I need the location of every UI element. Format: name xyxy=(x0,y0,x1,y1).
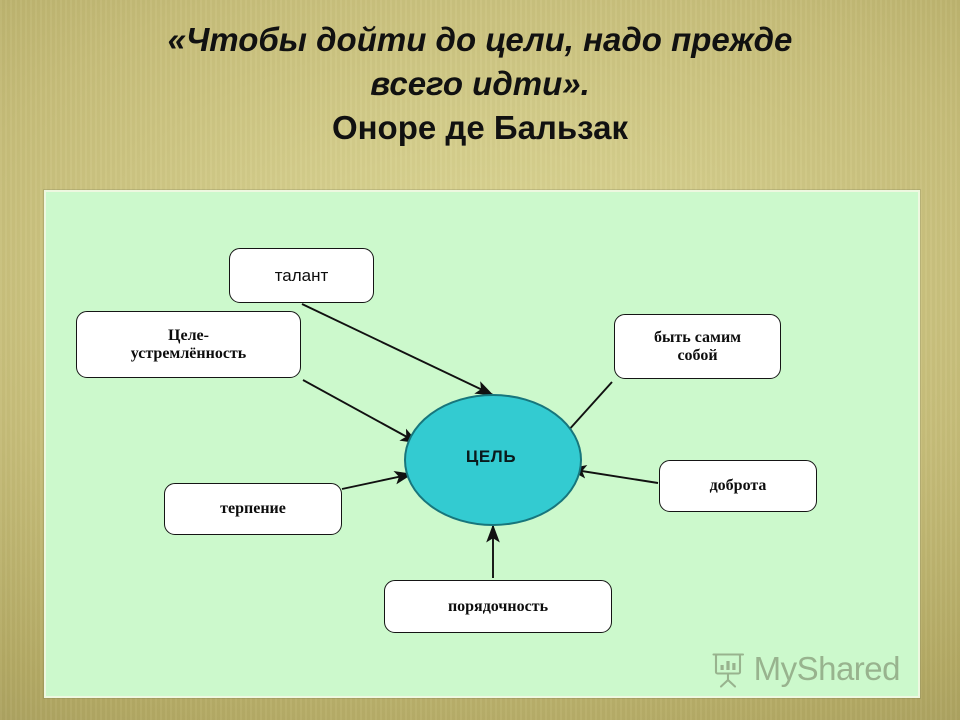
node-celeustremlennost-line2: устремлённость xyxy=(131,345,247,362)
node-byt-samim-soboy-line1: быть самим xyxy=(654,329,741,346)
myshared-watermark: MyShared xyxy=(711,650,900,688)
page-title: «Чтобы дойти до цели, надо прежде всего … xyxy=(60,18,900,150)
title-author: Оноре де Бальзак xyxy=(60,106,900,150)
node-poryadochnost-label: порядочность xyxy=(448,598,548,616)
edge-terpenie-to-center xyxy=(342,474,412,489)
node-byt-samim-soboy-line2: собой xyxy=(677,347,717,364)
presentation-easel-icon xyxy=(711,650,747,688)
node-talant-label: талант xyxy=(275,266,329,285)
node-celeustremlennost-line1: Целе- xyxy=(168,327,209,344)
title-line-2: всего идти». xyxy=(60,62,900,106)
node-talant[interactable]: талант xyxy=(229,248,374,303)
node-byt-samim-soboy-label: быть самим собой xyxy=(654,329,741,365)
node-terpenie-label: терпение xyxy=(220,500,286,518)
node-celeustremlennost-label: Целе- устремлённость xyxy=(131,327,247,363)
slide-canvas: «Чтобы дойти до цели, надо прежде всего … xyxy=(0,0,960,720)
edge-dobrota-to-center xyxy=(569,469,658,483)
node-celeustremlennost[interactable]: Целе- устремлённость xyxy=(76,311,301,378)
node-dobrota[interactable]: доброта xyxy=(659,460,817,512)
node-terpenie[interactable]: терпение xyxy=(164,483,342,535)
edge-talant-to-center xyxy=(302,304,493,395)
diagram-panel: талант Целе- устремлённость быть самим с… xyxy=(44,190,920,698)
node-byt-samim-soboy[interactable]: быть самим собой xyxy=(614,314,781,379)
edge-celeustrem-to-center xyxy=(303,380,418,443)
myshared-watermark-text: MyShared xyxy=(754,650,900,688)
node-poryadochnost[interactable]: порядочность xyxy=(384,580,612,633)
node-dobrota-label: доброта xyxy=(710,477,767,495)
title-line-1: «Чтобы дойти до цели, надо прежде xyxy=(60,18,900,62)
center-ellipse[interactable] xyxy=(405,395,581,525)
